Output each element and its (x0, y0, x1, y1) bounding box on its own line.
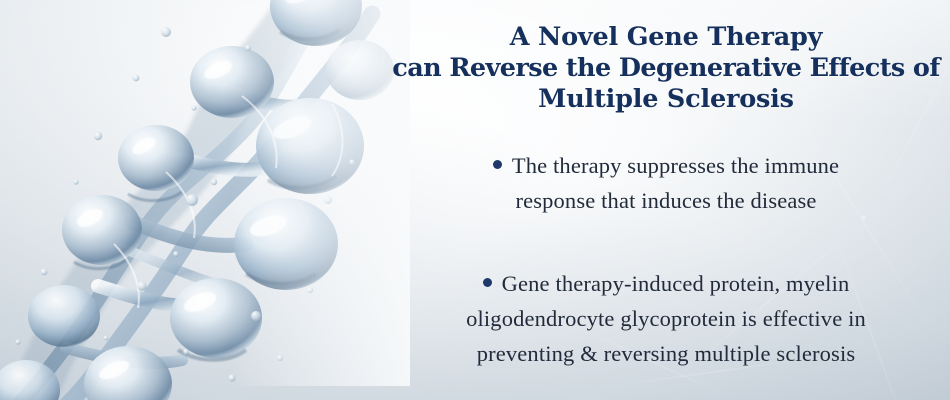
headline-line-1: A Novel Gene Therapy (382, 22, 950, 53)
bullet-line: Gene therapy-induced protein, myelin (382, 266, 950, 301)
bullet-dot-icon (483, 278, 492, 287)
headline-line-2: can Reverse the Degenerative Effects of (382, 53, 950, 84)
bullet-item: Gene therapy-induced protein, myelin oli… (382, 266, 950, 371)
bullet-dot-icon (493, 160, 502, 169)
banner-content: A Novel Gene Therapy can Reverse the Deg… (382, 0, 950, 400)
bullet-line: oligodendrocyte glycoprotein is effectiv… (382, 301, 950, 336)
bullet-text: Gene therapy-induced protein, myelin (502, 271, 850, 296)
bullet-item: The therapy suppresses the immune respon… (382, 148, 950, 218)
bullet-line: preventing & reversing multiple sclerosi… (382, 336, 950, 371)
water-dna-helix-artwork (0, 0, 410, 400)
gene-therapy-banner: A Novel Gene Therapy can Reverse the Deg… (0, 0, 950, 400)
bullet-line: response that induces the disease (382, 183, 950, 218)
headline-line-3: Multiple Sclerosis (382, 84, 950, 115)
bullet-line: The therapy suppresses the immune (382, 148, 950, 183)
banner-bullet-list: The therapy suppresses the immune respon… (382, 148, 950, 371)
bullet-text: The therapy suppresses the immune (512, 153, 839, 178)
banner-headline: A Novel Gene Therapy can Reverse the Deg… (382, 22, 950, 115)
